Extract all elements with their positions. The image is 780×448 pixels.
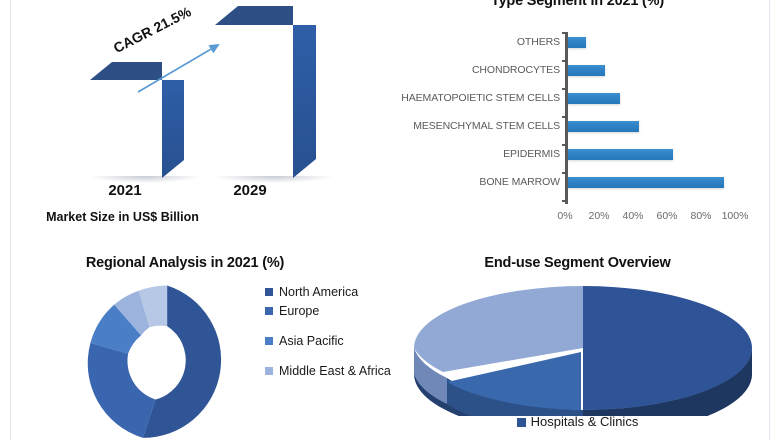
bar-label-mesenchymal-stem-cells: MESENCHYMAL STEM CELLS [413,120,560,132]
regional-analysis-title: Regional Analysis in 2021 (%) [10,255,360,271]
end-use-segment-pie-chart: End-use Segment Overview Hospitals & Cli… [385,248,770,440]
market-size-column-chart: 5.5 26.1 CAGR 21.5% 2021 2029 Market Siz… [10,0,385,248]
y-axis-tick [562,32,567,34]
legend-swatch-icon [517,418,526,427]
bar-value-chondrocytes [568,65,605,76]
bar-value-mesenchymal-stem-cells [568,121,639,132]
column-year-label-2029: 2029 [205,182,295,199]
column-plot-area: 5.5 26.1 CAGR 21.5% [10,0,385,200]
bar-row-chondrocytes: CHONDROCYTES [385,64,770,92]
legend-label-asia-pacific: Asia Pacific [279,334,344,348]
legend-label-europe: Europe [279,304,319,318]
column-year-label-2021: 2021 [80,182,170,199]
regional-analysis-donut-chart: Regional Analysis in 2021 (%) North Amer… [10,248,385,440]
cagr-arrow-icon [10,0,385,200]
bar-row-haematopoietic-stem-cells: HAEMATOPOIETIC STEM CELLS [385,92,770,120]
legend-item-asia-pacific[interactable]: Asia Pacific [265,333,395,350]
legend-spacer [265,322,395,333]
end-use-segment-title: End-use Segment Overview [385,255,770,271]
legend-spacer [265,352,395,363]
bar-row-bone-marrow: BONE MARROW [385,176,770,204]
donut-legend: North America Europe Asia Pacific Middle… [265,284,395,382]
bar-chart-x-axis-labels: 0% 20% 40% 60% 80% 100% [385,210,770,228]
bar-chart-plot-area: OTHERS CHONDROCYTES HAEMATOPOIETIC STEM … [385,30,770,208]
legend-item-europe[interactable]: Europe [265,303,395,320]
bar-label-haematopoietic-stem-cells: HAEMATOPOIETIC STEM CELLS [401,92,560,104]
legend-item-north-america[interactable]: North America [265,284,395,301]
donut-slice-europe [88,343,156,438]
legend-swatch-icon [265,288,273,296]
legend-label-north-america: North America [279,285,358,299]
legend-swatch-icon [265,337,273,345]
x-tick-100: 100% [715,210,755,222]
bar-label-epidermis: EPIDERMIS [503,148,560,160]
type-segment-bar-chart: Type Segment in 2021 (%) OTHERS CHONDROC… [385,0,770,248]
legend-item-middle-east-africa[interactable]: Middle East & Africa [265,363,395,380]
bar-label-bone-marrow: BONE MARROW [479,176,560,188]
bar-row-mesenchymal-stem-cells: MESENCHYMAL STEM CELLS [385,120,770,148]
column-chart-caption: Market Size in US$ Billion [0,210,310,224]
donut-graphic [60,280,275,448]
bar-value-haematopoietic-stem-cells [568,93,621,104]
legend-label-middle-east-africa: Middle East & Africa [279,364,391,378]
bar-value-others [568,37,587,48]
bar-row-others: OTHERS [385,36,770,64]
bar-value-bone-marrow [568,177,724,188]
pie-legend[interactable]: Hospitals & Clinics [385,414,770,429]
bar-label-others: OTHERS [517,36,560,48]
legend-swatch-icon [265,307,273,315]
legend-swatch-icon [265,367,273,375]
pie-graphic-3d [405,286,760,416]
bar-row-epidermis: EPIDERMIS [385,148,770,176]
legend-label-hospitals-clinics: Hospitals & Clinics [531,414,639,429]
type-segment-title: Type Segment in 2021 (%) [385,0,770,9]
bar-value-epidermis [568,149,673,160]
bar-label-chondrocytes: CHONDROCYTES [472,64,560,76]
